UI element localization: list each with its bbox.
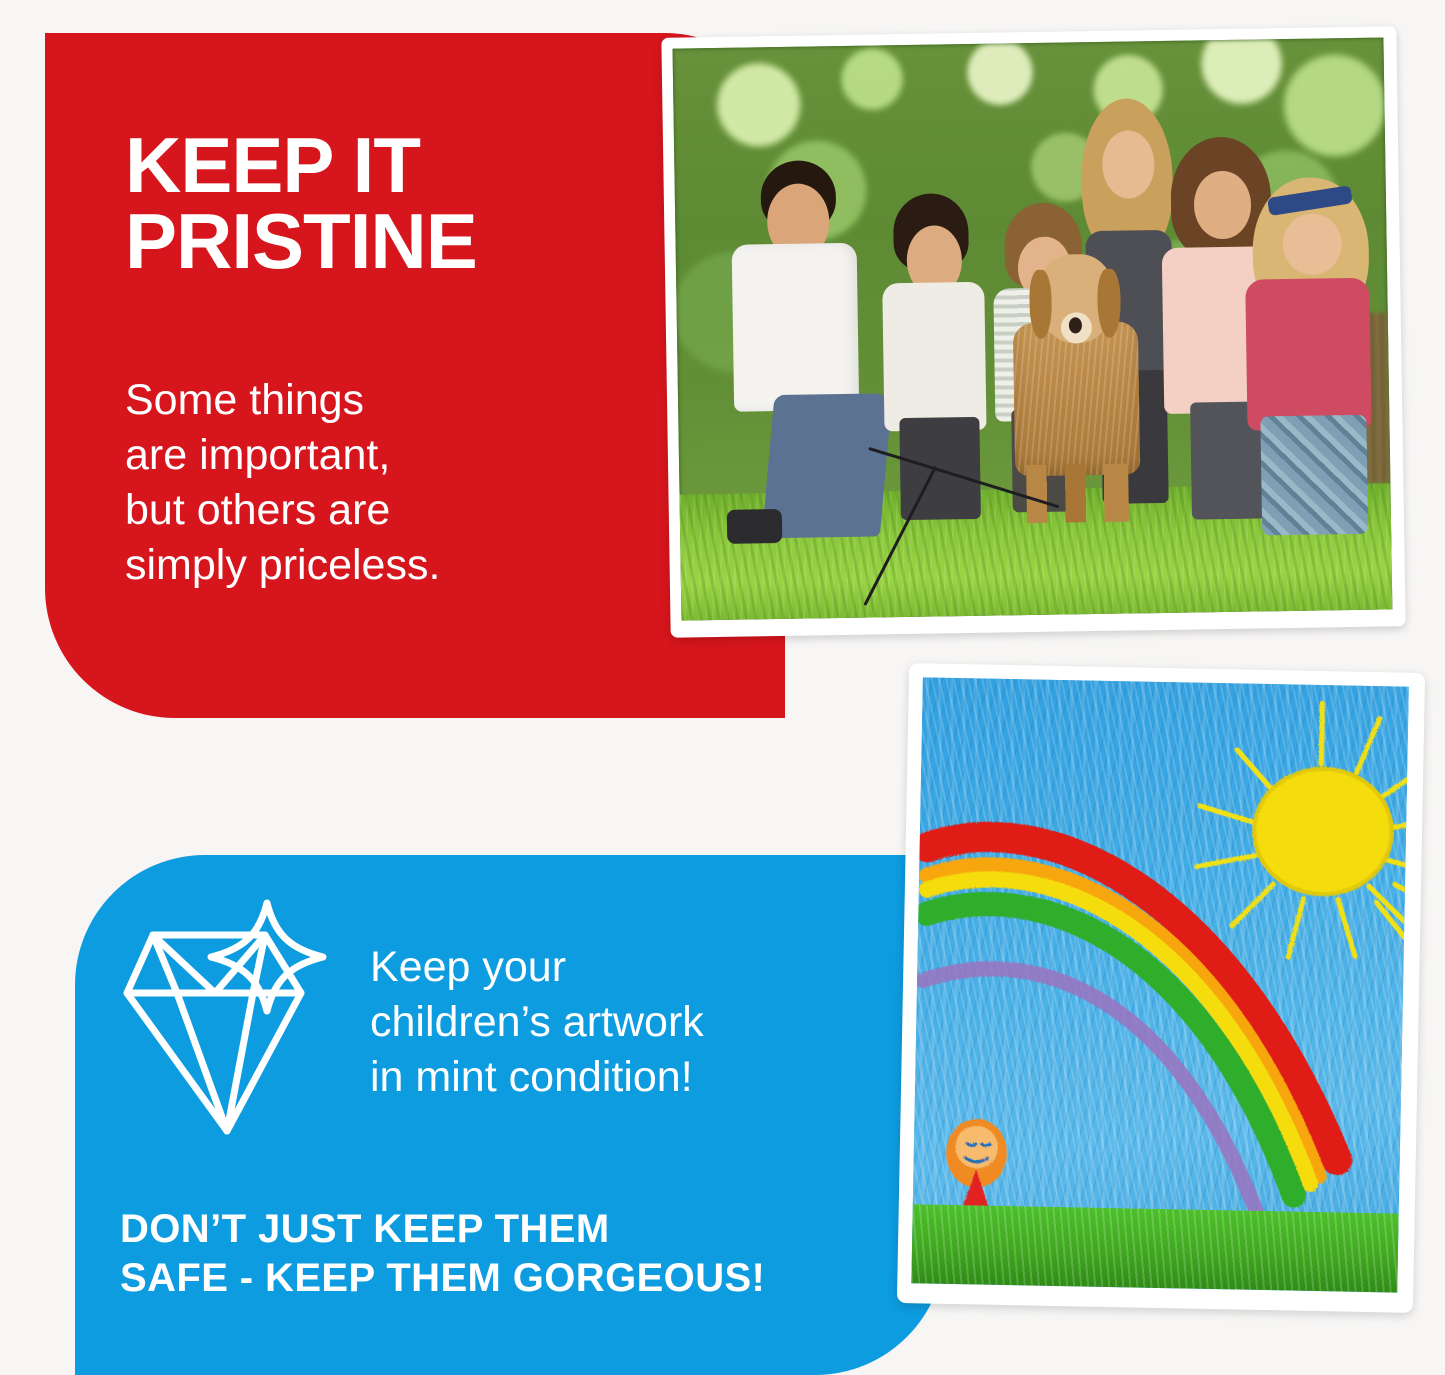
photo-dog: [1003, 253, 1149, 518]
blue-panel-footer: DON’T JUST KEEP THEM SAFE - KEEP THEM GO…: [120, 1205, 920, 1303]
poster-canvas: KEEP IT PRISTINE Some things are importa…: [0, 0, 1445, 1375]
photo-person-girl-pink: [1243, 169, 1384, 531]
blue-panel-headline: Keep your children’s artwork in mint con…: [370, 940, 870, 1105]
artwork-sun: [1253, 768, 1393, 896]
artwork-grass: [911, 1205, 1398, 1293]
photo-person-father: [724, 160, 893, 540]
blue-panel: Keep your children’s artwork in mint con…: [75, 855, 945, 1375]
artwork-photo-frame: [897, 663, 1425, 1313]
family-photo-image: [673, 37, 1393, 620]
red-panel-headline: KEEP IT PRISTINE: [125, 128, 685, 279]
red-panel-body: Some things are important, but others ar…: [125, 373, 645, 593]
artwork-image: [911, 677, 1409, 1292]
diamond-sparkle-icon: [115, 893, 335, 1143]
family-photo-frame: [661, 26, 1405, 637]
artwork-drawing: [911, 677, 1409, 1292]
